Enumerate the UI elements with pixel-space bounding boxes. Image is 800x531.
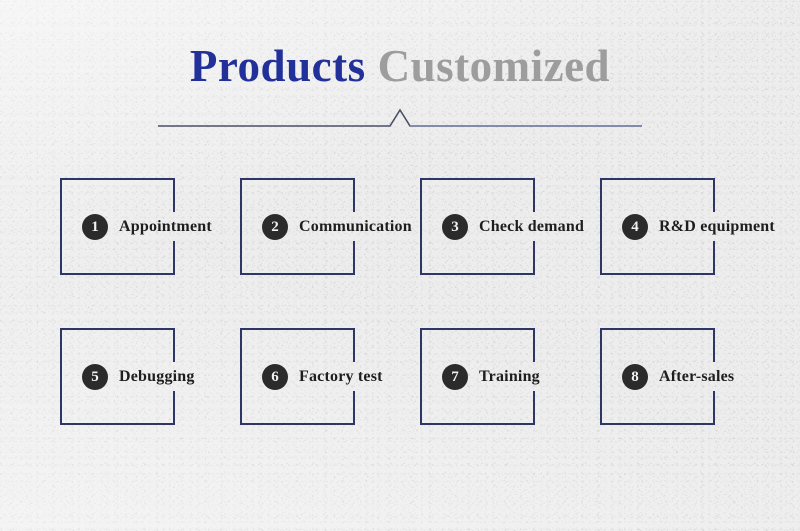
step-frame-edge-bottom (713, 391, 715, 425)
step-label: Communication (299, 218, 412, 236)
step-label: Training (479, 368, 540, 386)
step-frame-edge-top (713, 178, 715, 212)
step-frame-edge-bottom (173, 391, 175, 425)
poster-canvas: ProductsCustomized 1 Appointment 2 Commu… (0, 0, 800, 531)
step-number-badge: 3 (442, 214, 468, 240)
step-card-7[interactable]: 7 Training (420, 328, 535, 425)
step-content: 4 R&D equipment (622, 214, 775, 240)
step-number-badge: 1 (82, 214, 108, 240)
step-content: 5 Debugging (82, 364, 195, 390)
step-content: 7 Training (442, 364, 540, 390)
step-card-3[interactable]: 3 Check demand (420, 178, 535, 275)
step-card-5[interactable]: 5 Debugging (60, 328, 175, 425)
step-frame-edge-top (173, 328, 175, 362)
step-card-1[interactable]: 1 Appointment (60, 178, 175, 275)
step-frame-edge-bottom (533, 241, 535, 275)
steps-grid: 1 Appointment 2 Communication 3 Check de… (0, 0, 800, 531)
step-card-2[interactable]: 2 Communication (240, 178, 355, 275)
step-frame-edge-bottom (533, 391, 535, 425)
step-card-6[interactable]: 6 Factory test (240, 328, 355, 425)
step-frame-edge-top (353, 178, 355, 212)
step-content: 2 Communication (262, 214, 412, 240)
step-content: 8 After-sales (622, 364, 734, 390)
step-frame-edge-top (533, 328, 535, 362)
step-frame-edge-top (173, 178, 175, 212)
step-label: Factory test (299, 368, 383, 386)
step-label: R&D equipment (659, 218, 775, 236)
step-label: After-sales (659, 368, 734, 386)
step-frame-edge-top (713, 328, 715, 362)
step-frame-edge-bottom (173, 241, 175, 275)
step-frame-edge-bottom (353, 391, 355, 425)
step-number-badge: 7 (442, 364, 468, 390)
step-content: 3 Check demand (442, 214, 584, 240)
step-content: 6 Factory test (262, 364, 383, 390)
step-frame-edge-bottom (713, 241, 715, 275)
step-label: Check demand (479, 218, 584, 236)
step-card-4[interactable]: 4 R&D equipment (600, 178, 715, 275)
step-content: 1 Appointment (82, 214, 212, 240)
step-label: Appointment (119, 218, 212, 236)
step-card-8[interactable]: 8 After-sales (600, 328, 715, 425)
step-number-badge: 5 (82, 364, 108, 390)
step-label: Debugging (119, 368, 195, 386)
step-number-badge: 4 (622, 214, 648, 240)
step-number-badge: 8 (622, 364, 648, 390)
step-frame-edge-top (533, 178, 535, 212)
step-frame-edge-top (353, 328, 355, 362)
step-number-badge: 6 (262, 364, 288, 390)
step-number-badge: 2 (262, 214, 288, 240)
step-frame-edge-bottom (353, 241, 355, 275)
